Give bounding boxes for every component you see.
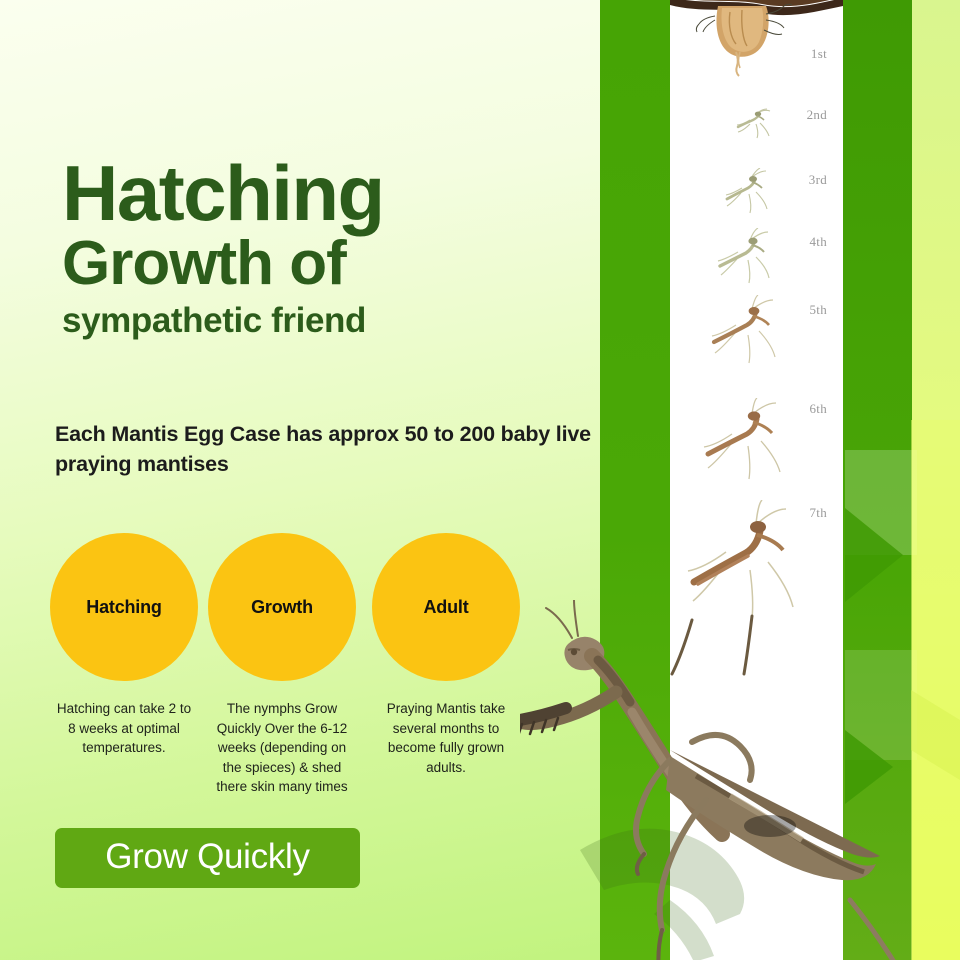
- stage-label-hatching: Hatching: [86, 597, 161, 618]
- instar-label-1st: 1st: [811, 46, 827, 62]
- instar-label-5th: 5th: [809, 302, 827, 318]
- intro-paragraph: Each Mantis Egg Case has approx 50 to 20…: [55, 420, 600, 479]
- nymph-3rd-instar-image: [718, 168, 780, 220]
- headline-block: Hatching Growth of sympathetic friend: [62, 158, 602, 340]
- infographic-poster: 1st 2nd 3rd 4th 5th 6th 7th Hatching Gro…: [0, 0, 960, 960]
- stage-description-hatching: Hatching can take 2 to 8 weeks at optima…: [50, 699, 198, 758]
- nymph-6th-instar-image: [694, 398, 806, 490]
- page-subtitle-large: Growth of: [62, 232, 602, 295]
- instar-label-6th: 6th: [809, 401, 827, 417]
- nymph-4th-instar-image: [710, 228, 788, 290]
- stage-circle-growth[interactable]: Growth: [208, 533, 356, 681]
- stage-description-adult: Praying Mantis take several months to be…: [372, 699, 520, 777]
- page-title: Hatching: [62, 158, 602, 230]
- stage-item-hatching[interactable]: Hatching Hatching can take 2 to 8 weeks …: [50, 533, 198, 758]
- nymph-2nd-instar-image: [730, 108, 778, 144]
- lime-band: [912, 0, 960, 960]
- stage-item-growth[interactable]: Growth The nymphs Grow Quickly Over the …: [208, 533, 356, 797]
- instar-label-7th: 7th: [809, 505, 827, 521]
- instar-label-3rd: 3rd: [809, 172, 827, 188]
- nymph-7th-instar-image: [678, 500, 818, 648]
- stage-label-adult: Adult: [424, 597, 469, 618]
- page-subtitle-small: sympathetic friend: [62, 302, 602, 341]
- stage-circle-adult[interactable]: Adult: [372, 533, 520, 681]
- stage-label-growth: Growth: [251, 597, 313, 618]
- instar-ladder: 1st 2nd 3rd 4th 5th 6th 7th: [670, 0, 843, 680]
- stage-circle-hatching[interactable]: Hatching: [50, 533, 198, 681]
- green-band-left: [600, 0, 670, 960]
- stage-item-adult[interactable]: Adult Praying Mantis take several months…: [372, 533, 520, 777]
- green-band-right: [843, 0, 912, 960]
- stage-description-growth: The nymphs Grow Quickly Over the 6-12 we…: [208, 699, 356, 797]
- instar-label-4th: 4th: [809, 234, 827, 250]
- grow-quickly-button[interactable]: Grow Quickly: [55, 828, 360, 888]
- instar-label-2nd: 2nd: [807, 107, 827, 123]
- nymph-5th-instar-image: [702, 295, 797, 373]
